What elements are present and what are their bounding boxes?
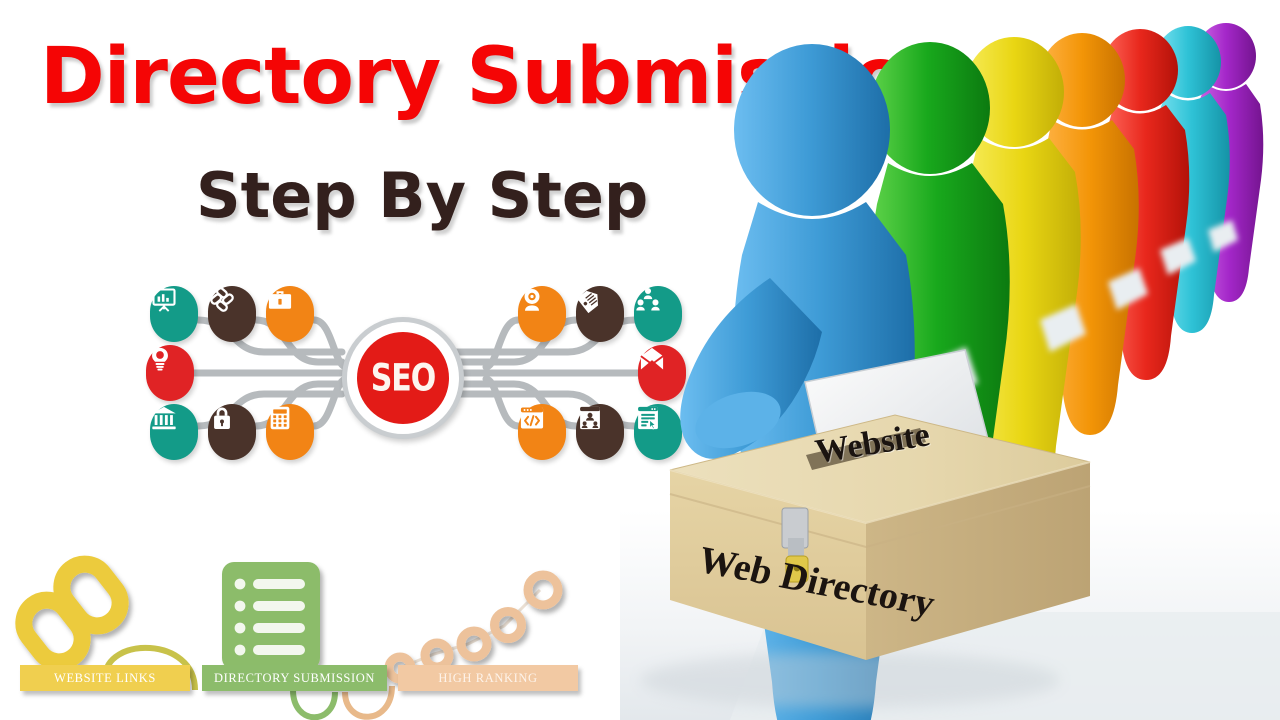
rising-rings-chart-icon xyxy=(389,575,558,679)
chain-links-icon xyxy=(15,555,130,671)
code-window-icon xyxy=(518,404,566,460)
bottom-banner-row: WEBSITE LINKS DIRECTORY SUBMISSION HIGH … xyxy=(0,540,600,720)
price-tag-icon xyxy=(576,286,624,342)
ballot-and-queue-illustration xyxy=(620,0,1280,720)
chain-links-icon xyxy=(208,286,256,342)
banner-graphics xyxy=(0,540,600,720)
seo-network-diagram: SEO xyxy=(136,268,696,478)
banner-high-ranking[interactable]: HIGH RANKING xyxy=(398,665,578,691)
lightbulb-idea-icon xyxy=(146,345,194,401)
briefcase-icon xyxy=(266,286,314,342)
banner-label: DIRECTORY SUBMISSION xyxy=(214,671,375,686)
padlock-icon xyxy=(208,404,256,460)
bank-institution-icon xyxy=(150,404,198,460)
webcam-icon xyxy=(518,286,566,342)
calculator-icon xyxy=(266,404,314,460)
banner-label: HIGH RANKING xyxy=(438,671,537,686)
seo-core-label: SEO xyxy=(371,356,436,400)
seo-core-badge: SEO xyxy=(342,317,464,439)
presentation-chart-icon xyxy=(150,286,198,342)
banner-directory-submission[interactable]: DIRECTORY SUBMISSION xyxy=(202,665,387,691)
user-directory-icon xyxy=(576,404,624,460)
poster-canvas: Directory Submission Step By Step xyxy=(0,0,1280,720)
banner-label: WEBSITE LINKS xyxy=(54,671,156,686)
checklist-document-icon xyxy=(222,562,320,670)
banner-website-links[interactable]: WEBSITE LINKS xyxy=(20,665,190,691)
